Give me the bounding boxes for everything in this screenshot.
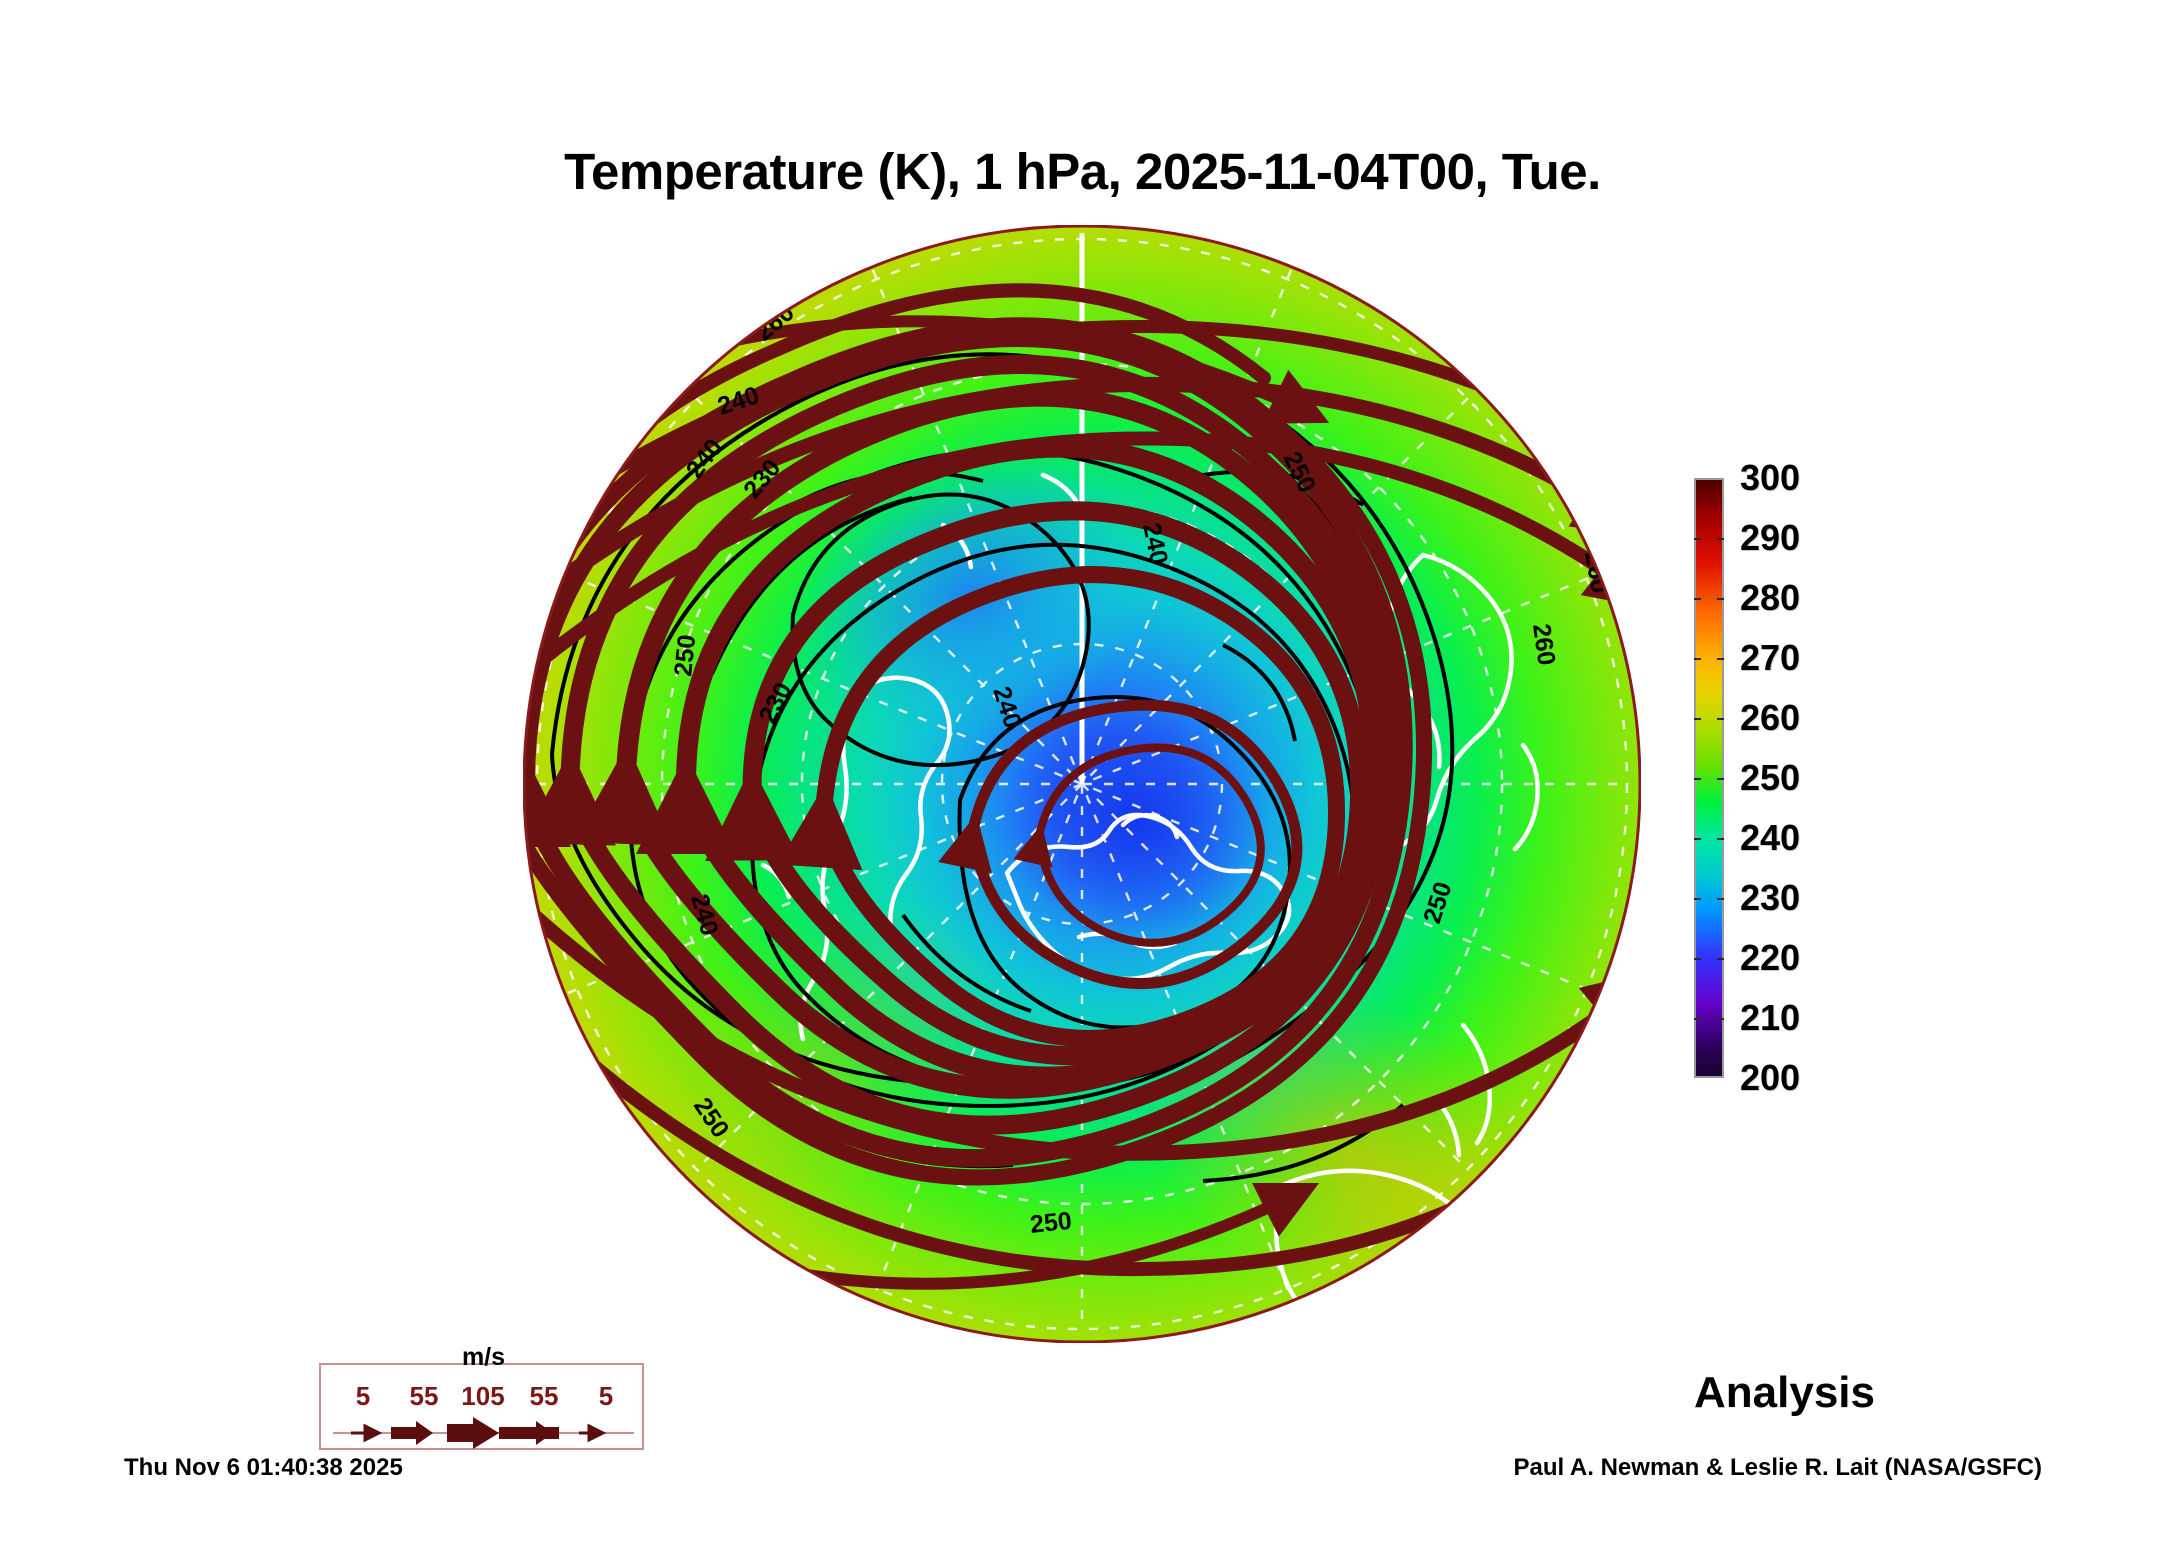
wind-legend-values: 555105555 [321,1381,646,1411]
colorbar: 300290280270260250240230220210200 [1694,472,2074,1084]
colorbar-tick-right [1717,778,1724,780]
wind-legend-value: 55 [530,1381,559,1412]
colorbar-tick-label: 250 [1740,760,1800,796]
colorbar-tick-label: 200 [1740,1060,1800,1096]
colorbar-tick-label: 240 [1740,820,1800,856]
svg-text:260: 260 [1527,622,1561,667]
wind-speed-legend: m/s 555105555 [319,1363,644,1450]
colorbar-tick-left [1694,538,1701,540]
colorbar-tick-label: 260 [1740,700,1800,736]
colorbar-labels: 300290280270260250240230220210200 [1740,472,1920,1084]
colorbar-tick-label: 210 [1740,1000,1800,1036]
colorbar-tick-left [1694,838,1701,840]
svg-text:250: 250 [1029,1207,1073,1239]
svg-text:250: 250 [669,633,701,677]
wind-legend-arrows [321,1417,646,1449]
wind-legend-value: 5 [356,1381,370,1412]
colorbar-ticks [1694,478,1724,1078]
colorbar-tick-right [1717,838,1724,840]
colorbar-tick-left [1694,898,1701,900]
contour-label-260-top: 260 [722,254,770,292]
colorbar-tick-label: 220 [1740,940,1800,976]
polar-map: 230 . 230 . 260 . . . . . 240 . 250 . . … [523,225,1641,1343]
colorbar-tick-left [1694,1018,1701,1020]
authors-credit: Paul A. Newman & Leslie R. Lait (NASA/GS… [1513,1454,2042,1482]
page-title: Temperature (K), 1 hPa, 2025-11-04T00, T… [0,142,2165,201]
colorbar-tick-label: 280 [1740,580,1800,616]
colorbar-tick-right [1717,1018,1724,1020]
colorbar-tick-right [1717,538,1724,540]
colorbar-tick-left [1694,718,1701,720]
colorbar-tick-right [1717,718,1724,720]
contour-label-230-left: 230 [534,463,580,513]
svg-text:250: 250 [723,249,772,291]
colorbar-tick-left [1694,658,1701,660]
colorbar-tick-label: 270 [1740,640,1800,676]
wind-legend-unit: m/s [321,1343,646,1372]
chart-canvas: Temperature (K), 1 hPa, 2025-11-04T00, T… [0,0,2165,1561]
colorbar-tick-label: 300 [1740,460,1800,496]
colorbar-tick-left [1694,778,1701,780]
colorbar-tick-right [1717,958,1724,960]
analysis-label: Analysis [1694,1368,1875,1418]
colorbar-tick-left [1694,598,1701,600]
wind-legend-value: 55 [410,1381,439,1412]
render-timestamp: Thu Nov 6 01:40:38 2025 [124,1454,403,1482]
colorbar-tick-right [1717,658,1724,660]
map-field: 230 . 230 . 260 . . . . . 240 . 250 . . … [523,225,1641,1343]
wind-legend-value: 105 [461,1381,504,1412]
colorbar-tick-right [1717,898,1724,900]
colorbar-tick-label: 290 [1740,520,1800,556]
colorbar-tick-label: 230 [1740,880,1800,916]
colorbar-tick-right [1717,598,1724,600]
colorbar-tick-left [1694,958,1701,960]
wind-legend-value: 5 [599,1381,613,1412]
